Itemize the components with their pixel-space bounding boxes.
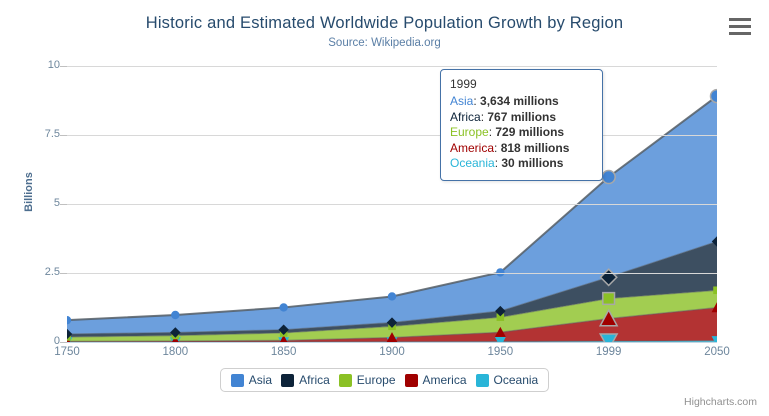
tooltip-series-name: Europe bbox=[450, 125, 489, 139]
tooltip-separator: : bbox=[473, 94, 480, 108]
tooltip-row: Oceania: 30 millions bbox=[450, 156, 593, 172]
tooltip-series-value: 3,634 millions bbox=[480, 94, 559, 108]
x-axis-line bbox=[67, 342, 717, 343]
data-point-europe[interactable] bbox=[713, 286, 717, 294]
tooltip-header: 1999 bbox=[450, 77, 593, 91]
tooltip-row: America: 818 millions bbox=[450, 141, 593, 157]
y-tick-mark bbox=[60, 273, 67, 274]
x-tick-label: 1950 bbox=[470, 346, 530, 358]
highcharts-container: Historic and Estimated Worldwide Populat… bbox=[0, 0, 769, 416]
tooltip-series-name: America bbox=[450, 141, 494, 155]
x-tick-label: 1900 bbox=[362, 346, 422, 358]
legend-swatch-icon bbox=[476, 374, 489, 387]
legend-label: America bbox=[423, 373, 467, 387]
y-axis-ticks: 02.557.510 bbox=[8, 66, 60, 342]
y-tick-label: 7.5 bbox=[14, 128, 60, 140]
legend-item-africa[interactable]: Africa bbox=[281, 373, 330, 387]
legend: AsiaAfricaEuropeAmericaOceania bbox=[0, 368, 769, 392]
tooltip-series-value: 767 millions bbox=[487, 110, 556, 124]
hamburger-bar bbox=[729, 32, 751, 35]
legend-item-oceania[interactable]: Oceania bbox=[476, 373, 539, 387]
x-tick-label: 1800 bbox=[145, 346, 205, 358]
gridline bbox=[67, 204, 717, 205]
legend-label: Oceania bbox=[494, 373, 539, 387]
data-point-asia[interactable] bbox=[279, 303, 287, 311]
y-tick-mark bbox=[60, 135, 67, 136]
chart-subtitle: Source: Wikipedia.org bbox=[0, 37, 769, 49]
x-tick-label: 1750 bbox=[37, 346, 97, 358]
data-point-asia[interactable] bbox=[711, 90, 718, 103]
y-tick-label: 5 bbox=[14, 197, 60, 209]
legend-item-asia[interactable]: Asia bbox=[231, 373, 272, 387]
data-point-europe[interactable] bbox=[603, 293, 615, 305]
chart-title: Historic and Estimated Worldwide Populat… bbox=[0, 14, 769, 33]
y-tick-mark bbox=[60, 204, 67, 205]
tooltip-series-name: Oceania bbox=[450, 156, 495, 170]
legend-swatch-icon bbox=[405, 374, 418, 387]
y-tick-label: 2.5 bbox=[14, 266, 60, 278]
tooltip-rows: Asia: 3,634 millionsAfrica: 767 millions… bbox=[450, 94, 593, 172]
legend-item-europe[interactable]: Europe bbox=[339, 373, 396, 387]
tooltip-series-value: 729 millions bbox=[495, 125, 564, 139]
y-tick-mark bbox=[60, 342, 67, 343]
data-point-asia[interactable] bbox=[171, 311, 179, 319]
y-tick-label: 10 bbox=[14, 59, 60, 71]
tooltip-series-value: 818 millions bbox=[501, 141, 570, 155]
x-tick-label: 1850 bbox=[254, 346, 314, 358]
legend-swatch-icon bbox=[231, 374, 244, 387]
gridline bbox=[67, 135, 717, 136]
tooltip-row: Africa: 767 millions bbox=[450, 110, 593, 126]
legend-swatch-icon bbox=[281, 374, 294, 387]
gridline bbox=[67, 273, 717, 274]
tooltip-separator: : bbox=[494, 141, 501, 155]
y-tick-mark bbox=[60, 66, 67, 67]
hamburger-menu-icon[interactable] bbox=[729, 18, 751, 35]
data-point-asia[interactable] bbox=[602, 171, 615, 184]
legend-label: Europe bbox=[357, 373, 396, 387]
legend-label: Africa bbox=[299, 373, 330, 387]
hamburger-bar bbox=[729, 25, 751, 28]
tooltip-row: Asia: 3,634 millions bbox=[450, 94, 593, 110]
tooltip-series-value: 30 millions bbox=[501, 156, 563, 170]
legend-item-america[interactable]: America bbox=[405, 373, 467, 387]
x-tick-label: 1999 bbox=[579, 346, 639, 358]
plot-area bbox=[67, 66, 717, 342]
data-point-asia[interactable] bbox=[388, 292, 396, 300]
legend-box: AsiaAfricaEuropeAmericaOceania bbox=[220, 368, 549, 392]
tooltip-series-name: Asia bbox=[450, 94, 473, 108]
legend-label: Asia bbox=[249, 373, 272, 387]
hamburger-bar bbox=[729, 18, 751, 21]
gridline bbox=[67, 66, 717, 67]
legend-swatch-icon bbox=[339, 374, 352, 387]
tooltip-series-name: Africa bbox=[450, 110, 481, 124]
credit-link[interactable]: Highcharts.com bbox=[684, 396, 757, 408]
x-tick-label: 2050 bbox=[687, 346, 747, 358]
tooltip: 1999 Asia: 3,634 millionsAfrica: 767 mil… bbox=[440, 69, 603, 181]
tooltip-row: Europe: 729 millions bbox=[450, 125, 593, 141]
